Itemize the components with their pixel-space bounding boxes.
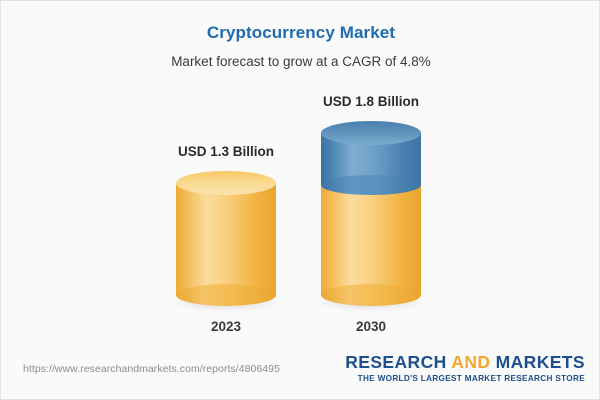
bar-top-cap-2023 bbox=[176, 171, 276, 195]
bar-segment-base-2030 bbox=[321, 183, 421, 295]
bar-segment-seam-2030 bbox=[321, 175, 421, 195]
bar-segment-base-2023 bbox=[176, 183, 276, 295]
source-url[interactable]: https://www.researchandmarkets.com/repor… bbox=[23, 363, 280, 375]
brand-wordmark: RESEARCH AND MARKETS bbox=[345, 353, 585, 371]
category-label-2030: 2030 bbox=[306, 319, 436, 334]
chart-subtitle: Market forecast to grow at a CAGR of 4.8… bbox=[1, 54, 600, 69]
page-title: Cryptocurrency Market bbox=[1, 23, 600, 43]
bar-top-cap-2030 bbox=[321, 121, 421, 145]
bar-group-2023: USD 1.3 Billion 2023 bbox=[161, 81, 291, 346]
brand-word-research: RESEARCH bbox=[345, 352, 446, 372]
brand-word-and: AND bbox=[451, 352, 490, 372]
bar-cylinder-2030[interactable] bbox=[321, 121, 421, 306]
brand-word-markets: MARKETS bbox=[496, 352, 585, 372]
bar-base-ellipse-2023 bbox=[176, 284, 276, 306]
footer: https://www.researchandmarkets.com/repor… bbox=[1, 347, 600, 399]
brand-tagline: THE WORLD'S LARGEST MARKET RESEARCH STOR… bbox=[345, 374, 585, 383]
bar-group-2030: USD 1.8 Billion 2030 bbox=[306, 81, 436, 346]
bar-value-label-2030: USD 1.8 Billion bbox=[306, 94, 436, 109]
brand-logo[interactable]: RESEARCH AND MARKETS THE WORLD'S LARGEST… bbox=[345, 353, 585, 383]
category-label-2023: 2023 bbox=[161, 319, 291, 334]
chart-card: Cryptocurrency Market Market forecast to… bbox=[0, 0, 600, 400]
bar-cylinder-2023[interactable] bbox=[176, 171, 276, 306]
plot-area: USD 1.3 Billion 2023 USD 1.8 Billion bbox=[1, 81, 600, 346]
bar-base-ellipse-2030 bbox=[321, 284, 421, 306]
bar-value-label-2023: USD 1.3 Billion bbox=[161, 144, 291, 159]
